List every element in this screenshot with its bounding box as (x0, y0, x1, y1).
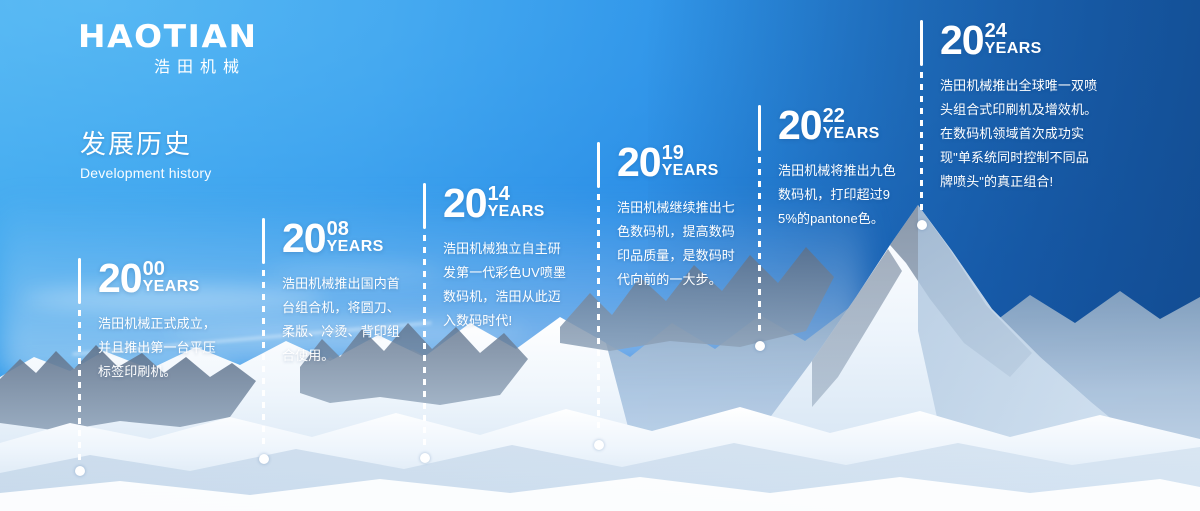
timeline-end-dot (420, 453, 430, 463)
timeline-dashed-line (262, 270, 265, 448)
timeline-content: 2008YEARS浩田机械推出国内首台组合机，将圆刀、柔版、冷烫、背印组合使用。 (282, 218, 412, 368)
timeline: 2000YEARS浩田机械正式成立，并且推出第一台平压标签印刷机。2008YEA… (0, 0, 1200, 511)
year-unit-label: YEARS (823, 126, 880, 143)
year-unit-label: YEARS (662, 163, 719, 180)
timeline-end-dot (75, 466, 85, 476)
year-prefix: 20 (98, 255, 142, 301)
year-suffix: 22 (823, 106, 880, 126)
year-suffix: 24 (985, 21, 1042, 41)
year-suffix: 00 (143, 259, 200, 279)
year-prefix: 20 (617, 139, 661, 185)
timeline-content: 2024YEARS浩田机械推出全球唯一双喷头组合式印刷机及增效机。在数码机领域首… (940, 20, 1098, 194)
timeline-end-dot (755, 341, 765, 351)
timeline-end-dot (917, 220, 927, 230)
timeline-description: 浩田机械继续推出七色数码机，提高数码印品质量，是数码时代向前的一大步。 (617, 196, 747, 292)
year-unit-label: YEARS (985, 41, 1042, 58)
timeline-description: 浩田机械推出国内首台组合机，将圆刀、柔版、冷烫、背印组合使用。 (282, 272, 412, 368)
timeline-rule (262, 218, 265, 264)
timeline-rule (423, 183, 426, 229)
timeline-dashed-line (920, 72, 923, 214)
timeline-description: 浩田机械正式成立，并且推出第一台平压标签印刷机。 (98, 312, 228, 384)
timeline-dashed-line (78, 310, 81, 460)
timeline-end-dot (594, 440, 604, 450)
year-suffix: 08 (327, 219, 384, 239)
year-unit-label: YEARS (488, 204, 545, 221)
timeline-content: 2014YEARS浩田机械独立自主研发第一代彩色UV喷墨数码机，浩田从此迈入数码… (443, 183, 573, 333)
timeline-description: 浩田机械独立自主研发第一代彩色UV喷墨数码机，浩田从此迈入数码时代! (443, 237, 573, 333)
timeline-rule (597, 142, 600, 188)
year-suffix: 19 (662, 143, 719, 163)
year-prefix: 20 (778, 102, 822, 148)
year-prefix: 20 (940, 17, 984, 63)
infographic-canvas: HAOTIAN 浩田机械 发展历史 Development history 20… (0, 0, 1200, 511)
timeline-rule (78, 258, 81, 304)
timeline-year: 2008YEARS (282, 218, 412, 259)
timeline-year: 2022YEARS (778, 105, 908, 146)
timeline-dashed-line (597, 194, 600, 434)
timeline-rule (758, 105, 761, 151)
year-unit-label: YEARS (327, 239, 384, 256)
timeline-content: 2022YEARS浩田机械将推出九色数码机，打印超过95%的pantone色。 (778, 105, 908, 231)
timeline-end-dot (259, 454, 269, 464)
year-prefix: 20 (282, 215, 326, 261)
timeline-dashed-line (758, 157, 761, 335)
timeline-year: 2024YEARS (940, 20, 1098, 61)
year-suffix: 14 (488, 184, 545, 204)
timeline-description: 浩田机械推出全球唯一双喷头组合式印刷机及增效机。在数码机领域首次成功实现"单系统… (940, 74, 1098, 194)
timeline-content: 2000YEARS浩田机械正式成立，并且推出第一台平压标签印刷机。 (98, 258, 228, 384)
year-unit-label: YEARS (143, 279, 200, 296)
timeline-content: 2019YEARS浩田机械继续推出七色数码机，提高数码印品质量，是数码时代向前的… (617, 142, 747, 292)
timeline-dashed-line (423, 235, 426, 447)
year-prefix: 20 (443, 180, 487, 226)
timeline-rule (920, 20, 923, 66)
timeline-year: 2019YEARS (617, 142, 747, 183)
timeline-year: 2014YEARS (443, 183, 573, 224)
timeline-description: 浩田机械将推出九色数码机，打印超过95%的pantone色。 (778, 159, 908, 231)
timeline-year: 2000YEARS (98, 258, 228, 299)
